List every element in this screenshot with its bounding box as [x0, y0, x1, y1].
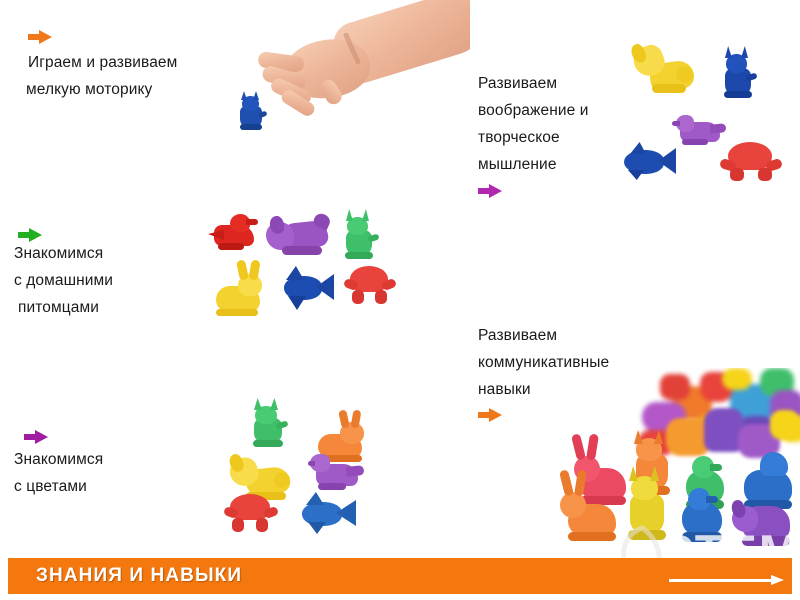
- text-block-imagination: Развиваем воображение и творческое мышле…: [478, 70, 589, 198]
- figure-fish-blue: [278, 264, 334, 312]
- block-line: творческое: [478, 124, 589, 151]
- block-line: Знакомимся: [14, 240, 113, 267]
- text-block-fine-motor: Играем и развиваем мелкую моторику: [28, 30, 177, 103]
- image-baby-hand-with-cat-figure: [222, 0, 470, 132]
- block-line: мышление: [478, 151, 589, 178]
- image-five-animal-figures: [600, 18, 800, 210]
- banner-title: ЗНАНИЯ И НАВЫКИ: [36, 565, 242, 587]
- right-arrow-icon-white: [669, 575, 784, 586]
- block-line: питомцами: [18, 294, 113, 321]
- figure-cat-green: [246, 396, 290, 448]
- block-line: с домашними: [14, 267, 113, 294]
- right-arrow-icon-orange: [478, 408, 502, 422]
- block-line: мелкую моторику: [26, 76, 177, 103]
- text-block-colors: Знакомимся с цветами: [14, 430, 103, 500]
- figure-cat-blue: [718, 42, 758, 100]
- figure-cat-blue: [234, 86, 268, 130]
- figure-rabbit-yellow: [210, 260, 268, 316]
- block-line: Знакомимся: [14, 446, 103, 473]
- block-line: воображение и: [478, 97, 589, 124]
- figure-bird-purple: [308, 452, 364, 492]
- text-block-pets: Знакомимся с домашними питомцами: [14, 228, 113, 321]
- figure-bird-red: [208, 214, 260, 250]
- right-arrow-icon-purple: [24, 430, 48, 444]
- figure-cat-yellow: [622, 464, 672, 544]
- figure-dog-purple: [732, 486, 794, 548]
- block-line: Развиваем: [478, 322, 609, 349]
- bottom-banner: ЗНАНИЯ И НАВЫКИ: [8, 558, 792, 594]
- block-line: с цветами: [14, 473, 103, 500]
- slide-canvas: Играем и развиваем мелкую моторику: [0, 0, 800, 600]
- right-arrow-icon-orange: [28, 30, 52, 44]
- figure-turtle-red: [720, 140, 782, 182]
- figure-dog-purple: [266, 208, 330, 256]
- block-line: Играем и развиваем: [28, 49, 177, 76]
- block-line: Развиваем: [478, 70, 589, 97]
- figure-dog-yellow: [632, 40, 696, 94]
- figure-cat-green: [338, 206, 380, 260]
- image-six-pet-figures: [196, 198, 396, 322]
- image-six-rainbow-figures: [218, 392, 408, 538]
- right-arrow-icon-green: [18, 228, 42, 242]
- figure-turtle-red: [224, 492, 278, 536]
- figure-bird-blue: [674, 486, 726, 548]
- image-pile-of-animal-figures: [550, 368, 800, 550]
- figure-turtle-red: [344, 264, 396, 312]
- figure-bird-purple: [672, 112, 724, 146]
- figure-fish-blue: [296, 492, 356, 534]
- figure-fish-blue: [618, 142, 676, 180]
- right-arrow-icon-purple: [478, 184, 502, 198]
- figure-rabbit-orange: [558, 466, 620, 544]
